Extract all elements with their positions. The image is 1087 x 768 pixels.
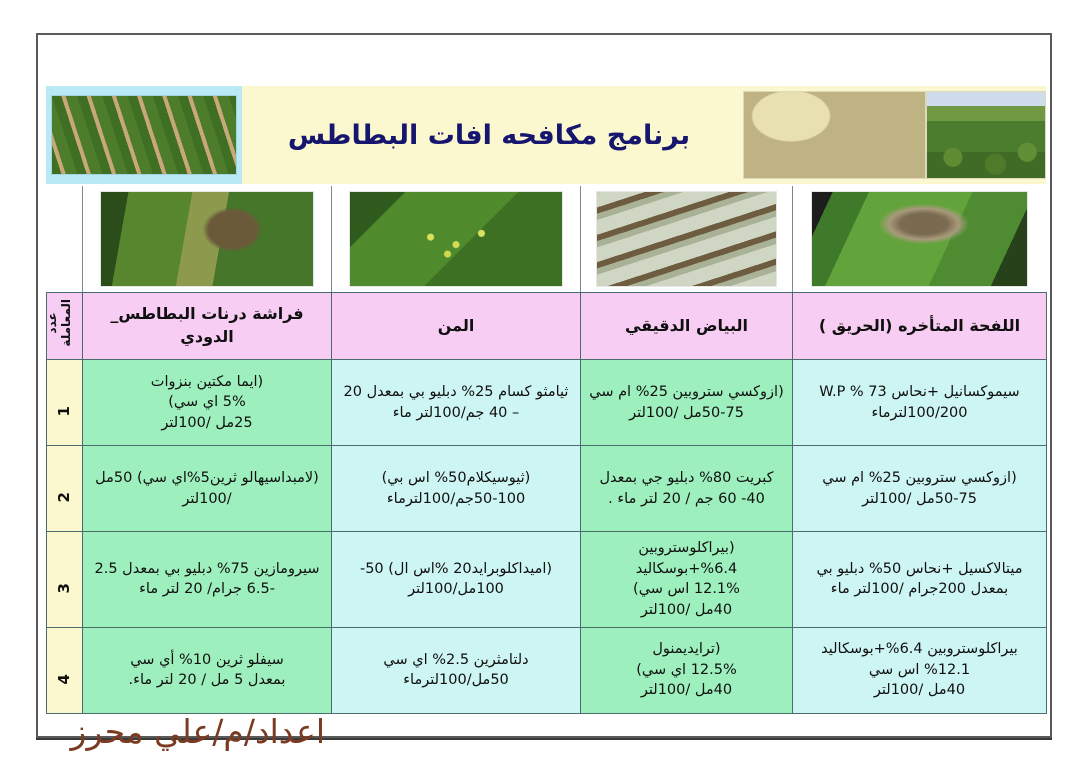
- treatment-number-label: 4: [56, 674, 73, 684]
- cell-tuber-moth-3: سيرومازين 75% دبليو بي بمعدل 2.5 -6.5 جر…: [83, 532, 332, 627]
- cell-late-blight-2: (ازوكسي ستروبين 25% ام سي 50-75مل /100لت…: [793, 446, 1047, 532]
- tuber-moth-leaf-photo: [100, 191, 313, 287]
- cell-aphid-2: (ثيوسيكلام50% اس بي) 50-100جم/100لترماء: [332, 446, 581, 532]
- table-row: (ازوكسي ستروبين 25% ام سي 50-75مل /100لت…: [47, 446, 1047, 532]
- potato-rows-photo: [51, 95, 237, 175]
- cell-powdery-mildew-1: (ازوكسي ستروبين 25% ام سي 50-75مل /100لت…: [581, 360, 793, 446]
- disease-photo-strip: [46, 186, 1046, 292]
- title-container: برنامج مكافحه افات البطاطس: [242, 86, 736, 184]
- page-title: برنامج مكافحه افات البطاطس: [288, 120, 690, 151]
- cell-late-blight-3: ميتالاكسيل +نحاس 50% دبليو بي بمعدل 200ج…: [793, 532, 1047, 627]
- table-body: سيموكسانيل +نحاس W.P % 73 100/200لترماء …: [47, 360, 1047, 713]
- cell-late-blight-1: سيموكسانيل +نحاس W.P % 73 100/200لترماء: [793, 360, 1047, 446]
- late-blight-leaf-photo: [811, 191, 1029, 287]
- header-row: اللفحة المتأخره (الحريق ) البياض الدقيقي…: [47, 293, 1047, 360]
- cell-late-blight-4: بيراكلوستروبين 6.4%+بوسكاليد 12.1% اس سي…: [793, 627, 1047, 713]
- photo-cell-late-blight: [792, 186, 1046, 292]
- header-label-tuber-moth: فراشة درنات البطاطس_ الدودي: [110, 304, 303, 346]
- treatment-number-label: 3: [56, 583, 73, 593]
- header-label-powdery-mildew: البياض الدقيقي: [625, 316, 748, 335]
- title-banner: برنامج مكافحه افات البطاطس: [46, 86, 1046, 184]
- banner-right-photo-cell: [46, 86, 242, 184]
- cell-treatment-number-3: 3: [47, 532, 83, 627]
- cell-powdery-mildew-2: كبريت 80% دبليو جي بمعدل 40- 60 جم / 20 …: [581, 446, 793, 532]
- treatment-number-label: 1: [56, 406, 73, 416]
- banner-photo-group: [736, 86, 1046, 184]
- cell-powdery-mildew-3: (بيراكلوستروبين 6.4%+بوسكاليد 12.1% اس س…: [581, 532, 793, 627]
- cell-treatment-number-1: 1: [47, 360, 83, 446]
- table-row: سيموكسانيل +نحاس W.P % 73 100/200لترماء …: [47, 360, 1047, 446]
- header-label-aphid: المن: [438, 316, 475, 335]
- cell-tuber-moth-1: (ايما مكتين بنزوات 5% اي سي) 25مل /100لت…: [83, 360, 332, 446]
- cell-tuber-moth-4: سيفلو ثرين 10% أي سي بمعدل 5 مل / 20 لتر…: [83, 627, 332, 713]
- header-label-late-blight: اللفحة المتأخره (الحريق ): [819, 316, 1020, 335]
- photo-cell-index-spacer: [46, 186, 82, 292]
- cell-aphid-4: دلتامثرين 2.5% اي سي 50مل/100لترماء: [332, 627, 581, 713]
- column-header-powdery-mildew: البياض الدقيقي: [581, 293, 793, 360]
- cell-powdery-mildew-4: (ترايديمنول 12.5% اي سي) 40مل /100لتر: [581, 627, 793, 713]
- cell-treatment-number-2: 2: [47, 446, 83, 532]
- header-label-treatment-number: عدد المعاملة: [46, 299, 74, 347]
- table-row: ميتالاكسيل +نحاس 50% دبليو بي بمعدل 200ج…: [47, 532, 1047, 627]
- powdery-mildew-leaf-photo: [596, 191, 777, 287]
- aphid-leaf-photo: [349, 191, 562, 287]
- column-header-tuber-moth: فراشة درنات البطاطس_ الدودي: [83, 293, 332, 360]
- photo-cell-powdery-mildew: [580, 186, 792, 292]
- column-header-late-blight: اللفحة المتأخره (الحريق ): [793, 293, 1047, 360]
- document-page: برنامج مكافحه افات البطاطس اللفحة المتأخ…: [0, 0, 1087, 768]
- column-header-aphid: المن: [332, 293, 581, 360]
- potato-tubers-photo: [743, 91, 926, 179]
- cell-aphid-1: ثيامثو كسام 25% دبليو بي بمعدل 20 – 40 ج…: [332, 360, 581, 446]
- photo-cell-aphid: [331, 186, 580, 292]
- column-header-treatment-number: عدد المعاملة: [47, 293, 83, 360]
- potato-field-photo: [926, 91, 1046, 179]
- cell-tuber-moth-2: (لامبداسيهالو ثرين5%اي سي) 50مل /100لتر: [83, 446, 332, 532]
- pest-control-table: اللفحة المتأخره (الحريق ) البياض الدقيقي…: [46, 292, 1047, 714]
- author-signature: اعداد/م/علي محرز: [71, 712, 325, 751]
- cell-aphid-3: (اميداكلوبرايد20 %اس ال) 50-100مل/100لتر: [332, 532, 581, 627]
- cell-treatment-number-4: 4: [47, 627, 83, 713]
- table-row: بيراكلوستروبين 6.4%+بوسكاليد 12.1% اس سي…: [47, 627, 1047, 713]
- photo-cell-tuber-moth: [82, 186, 331, 292]
- table-header: اللفحة المتأخره (الحريق ) البياض الدقيقي…: [47, 293, 1047, 360]
- treatment-number-label: 2: [56, 492, 73, 502]
